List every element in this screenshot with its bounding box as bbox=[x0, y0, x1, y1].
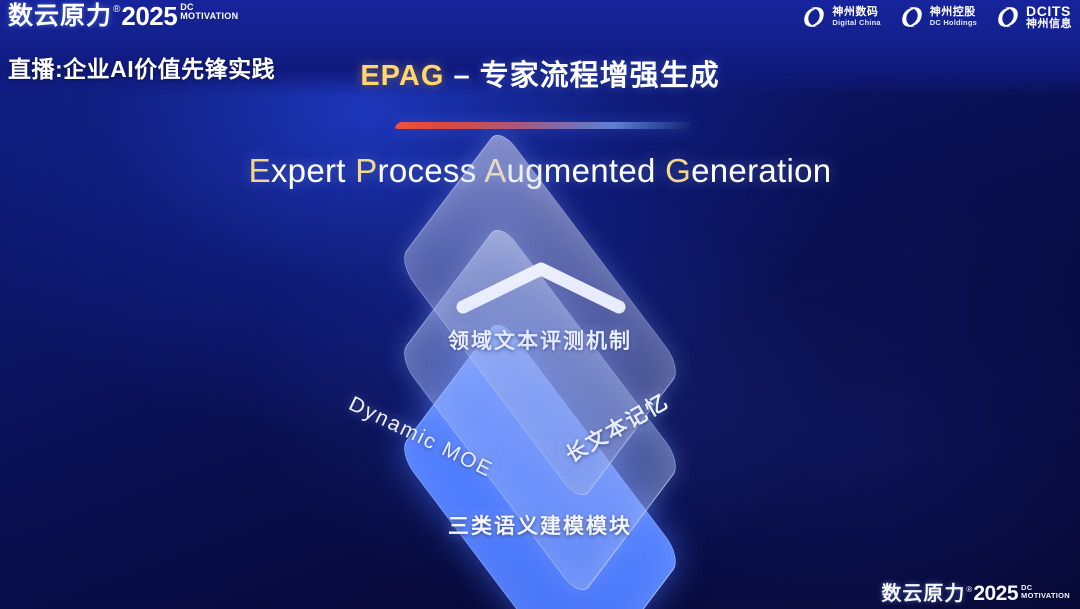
expansion-cap-p: P bbox=[355, 152, 377, 189]
brand-registered-mark: ® bbox=[113, 4, 120, 16]
partner-name-en: Digital China bbox=[832, 19, 880, 27]
brand-year: 2025 bbox=[121, 2, 177, 30]
dc-holdings-swirl-icon bbox=[899, 4, 925, 30]
partner-name-cn: 神州信息 bbox=[1026, 19, 1072, 31]
brand-tagline: DC MOTIVATION bbox=[180, 3, 238, 21]
layer-stack-diagram: 领域文本评测机制 Dynamic MOE 长文本记忆 三类语义建模模块 bbox=[255, 205, 825, 570]
partner-text-dcits: DCITS 神州信息 bbox=[1026, 4, 1072, 30]
title-acronym: EPAG bbox=[360, 60, 444, 92]
digital-china-swirl-icon bbox=[801, 4, 827, 30]
brand-name-cn: 数云原力 bbox=[8, 2, 112, 30]
watermark-tagline: DC MOTIVATION bbox=[1021, 584, 1070, 599]
page-title: EPAG – 专家流程增强生成 bbox=[0, 52, 1080, 94]
partner-logo-dcits: DCITS 神州信息 bbox=[995, 4, 1072, 30]
partner-logo-group: 神州数码 Digital China 神州控股 DC Holdings DCIT… bbox=[801, 4, 1072, 30]
watermark-registered-mark: ® bbox=[966, 585, 972, 594]
partner-text-dc-holdings: 神州控股 DC Holdings bbox=[930, 7, 977, 26]
title-separator: – bbox=[444, 60, 479, 92]
brand-tagline-line2: MOTIVATION bbox=[180, 12, 238, 21]
expansion-rest-expert: xpert bbox=[271, 152, 346, 189]
expansion-rest-generation: eneration bbox=[691, 152, 831, 189]
watermark-name-cn: 数云原力 bbox=[881, 583, 965, 605]
watermark-tagline-line2: MOTIVATION bbox=[1021, 592, 1070, 600]
layer-label-bottom: 三类语义建模模块 bbox=[255, 510, 825, 540]
partner-logo-digital-china: 神州数码 Digital China bbox=[801, 4, 880, 30]
brand-logo: 数云原力 ® 2025 DC MOTIVATION bbox=[8, 2, 238, 30]
partner-name-en: DC Holdings bbox=[930, 19, 977, 27]
dcits-swirl-icon bbox=[995, 4, 1021, 30]
partner-name-en: DCITS bbox=[1026, 4, 1072, 19]
layer-label-top: 领域文本评测机制 bbox=[255, 325, 825, 355]
footer-watermark: 数云原力 ® 2025 DC MOTIVATION bbox=[881, 583, 1070, 605]
slide-canvas: 数云原力 ® 2025 DC MOTIVATION 直播:企业AI价值先锋实践 … bbox=[0, 0, 1080, 609]
chevron-up-icon bbox=[451, 257, 631, 317]
expansion-cap-e: E bbox=[249, 152, 271, 189]
title-chinese: 专家流程增强生成 bbox=[480, 60, 720, 92]
watermark-year: 2025 bbox=[973, 583, 1018, 605]
partner-text-digital-china: 神州数码 Digital China bbox=[832, 7, 880, 26]
expansion-cap-g: G bbox=[665, 152, 691, 189]
gradient-divider bbox=[394, 122, 693, 129]
partner-logo-dc-holdings: 神州控股 DC Holdings bbox=[899, 4, 977, 30]
